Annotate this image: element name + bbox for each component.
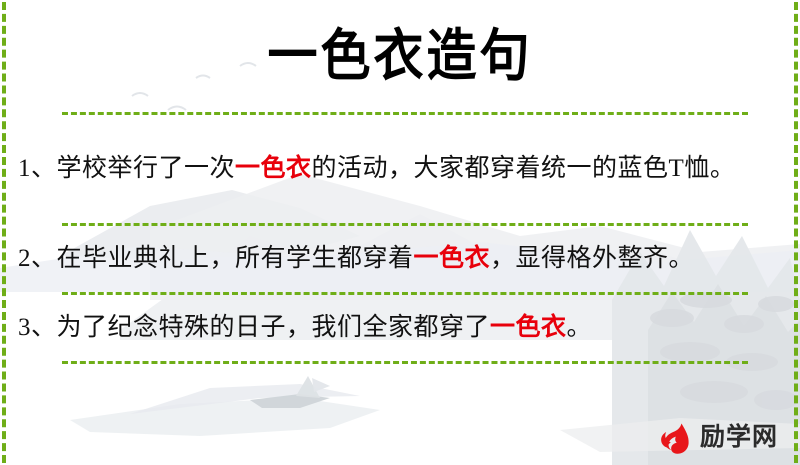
content-stack: 一色衣造句 1、学校举行了一次一色衣的活动，大家都穿着统一的蓝色T恤。 2、在毕… [0, 0, 800, 465]
flame-swirl-icon [654, 417, 694, 457]
keyword-highlight-3: 一色衣 [490, 314, 567, 341]
keyword-highlight-1: 一色衣 [235, 155, 312, 182]
sentence-row-1: 1、学校举行了一次一色衣的活动，大家都穿着统一的蓝色T恤。 [18, 115, 782, 223]
sentence-before-1: 学校举行了一次 [57, 155, 236, 182]
page-title: 一色衣造句 [268, 28, 533, 84]
sentence-text-3: 3、为了纪念特殊的日子，我们全家都穿了一色衣。 [18, 310, 592, 346]
sentence-index-2: 2、 [18, 245, 57, 272]
site-logo-text: 励学网 [700, 425, 778, 450]
sentence-index-1: 1、 [18, 155, 57, 182]
title-band: 一色衣造句 [18, 0, 782, 112]
sentence-text-1: 1、学校举行了一次一色衣的活动，大家都穿着统一的蓝色T恤。 [18, 151, 735, 187]
sentence-row-3: 3、为了纪念特殊的日子，我们全家都穿了一色衣。 [18, 295, 782, 361]
keyword-highlight-2: 一色衣 [414, 245, 491, 272]
sentence-after-1: 的活动，大家都穿着统一的蓝色T恤。 [312, 155, 736, 182]
sentence-before-3: 为了纪念特殊的日子，我们全家都穿了 [57, 314, 491, 341]
sentence-index-3: 3、 [18, 314, 57, 341]
sentence-row-2: 2、在毕业典礼上，所有学生都穿着一色衣，显得格外整齐。 [18, 226, 782, 292]
sentence-text-2: 2、在毕业典礼上，所有学生都穿着一色衣，显得格外整齐。 [18, 241, 694, 277]
sentence-after-3: 。 [567, 314, 593, 341]
sentence-before-2: 在毕业典礼上，所有学生都穿着 [57, 245, 414, 272]
sentence-card-page: 一色衣造句 1、学校举行了一次一色衣的活动，大家都穿着统一的蓝色T恤。 2、在毕… [0, 0, 800, 465]
site-logo[interactable]: 励学网 [654, 417, 778, 457]
separator-4 [62, 361, 748, 364]
sentence-after-2: ，显得格外整齐。 [490, 245, 694, 272]
